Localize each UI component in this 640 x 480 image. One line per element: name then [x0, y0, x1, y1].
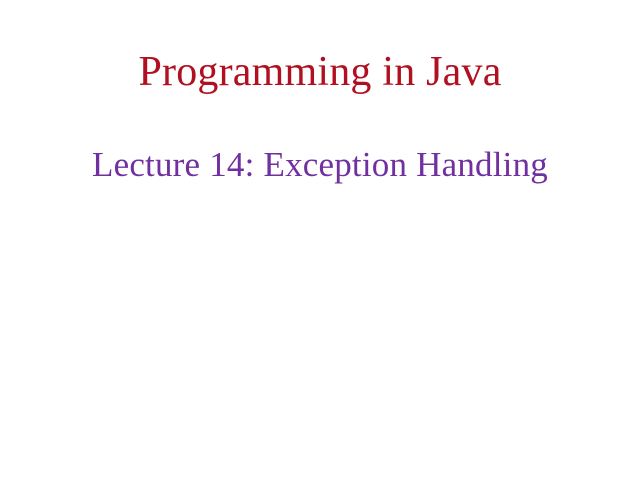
slide-subtitle: Lecture 14: Exception Handling — [0, 145, 640, 185]
slide-title: Programming in Java — [0, 49, 640, 95]
presentation-slide: Programming in Java Lecture 14: Exceptio… — [0, 0, 640, 480]
slide-body-content — [60, 200, 580, 460]
